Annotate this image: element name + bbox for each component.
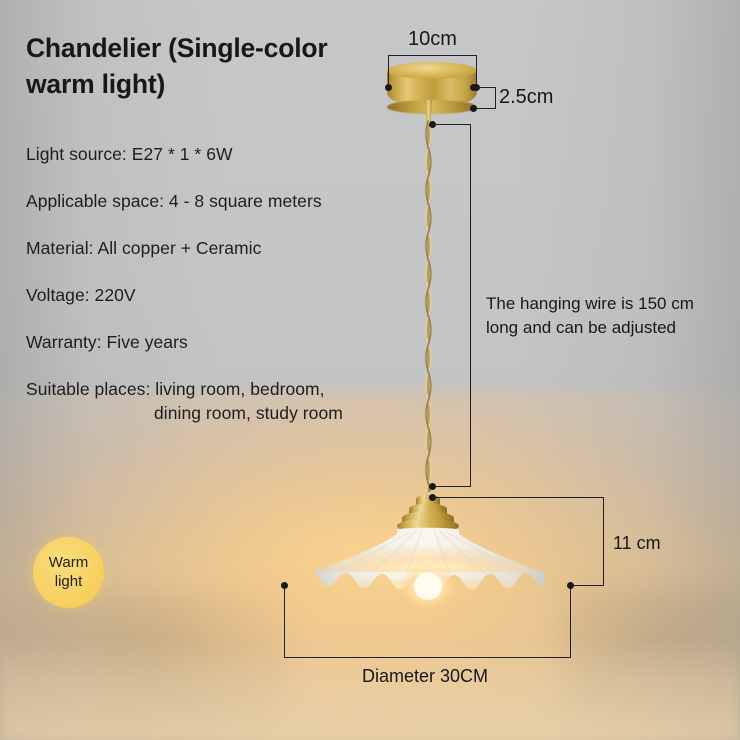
wire-note-dot-bottom	[429, 483, 436, 490]
dim-label-canopy-width: 10cm	[408, 28, 457, 51]
hanging-wire-note-line1: The hanging wire is 150 cm	[486, 294, 694, 313]
cord-braid	[424, 120, 433, 492]
dim-10cm-tick-right	[476, 55, 477, 87]
warm-light-badge-line2: light	[55, 573, 83, 591]
dim-25cm-leader-bottom	[476, 108, 496, 109]
spec-voltage: Voltage: 220V	[26, 284, 426, 307]
dim-10cm-dot-left	[385, 84, 392, 91]
spec-warranty: Warranty: Five years	[26, 331, 426, 354]
wire-note-leader-bottom	[432, 486, 471, 487]
canopy-bottom-edge	[387, 100, 477, 114]
lamp-shade-art	[276, 486, 581, 611]
wall-light-wash	[0, 640, 740, 740]
spec-suitable-places: Suitable places: living room, bedroom, d…	[26, 378, 426, 424]
spec-suitable-places-line1: Suitable places: living room, bedroom,	[26, 379, 325, 399]
wire-note-line	[470, 124, 471, 486]
dim-25cm-dot-bottom	[470, 105, 477, 112]
spec-suitable-places-line2: dining room, study room	[26, 402, 426, 425]
hanging-cord	[424, 120, 433, 492]
dim-label-canopy-height: 2.5cm	[499, 86, 553, 109]
lamp-shade	[276, 486, 581, 611]
warm-light-badge: Warm light	[33, 537, 104, 608]
spec-material: Material: All copper + Ceramic	[26, 237, 426, 260]
dim-11cm-leader-top	[432, 497, 604, 498]
dim-25cm-dot-top	[470, 84, 477, 91]
canopy-top-face	[387, 62, 477, 79]
dim-diameter-tick-right	[570, 585, 571, 657]
dim-10cm-line	[388, 55, 477, 56]
dim-25cm-leader-top	[476, 87, 496, 88]
dim-label-shade-diameter: Diameter 30CM	[362, 666, 488, 687]
dim-25cm-line	[495, 87, 496, 109]
spec-light-source: Light source: E27 * 1 * 6W	[26, 143, 426, 166]
wire-note-leader-top	[432, 124, 471, 125]
specification-list: Light source: E27 * 1 * 6W Applicable sp…	[26, 143, 426, 425]
hanging-wire-note: The hanging wire is 150 cm long and can …	[486, 292, 694, 340]
ceiling-canopy	[387, 62, 477, 110]
hanging-wire-note-line2: long and can be adjusted	[486, 318, 676, 337]
dim-diameter-tick-left	[284, 585, 285, 657]
page-title: Chandelier (Single-color warm light)	[26, 30, 386, 102]
dim-11cm-leader-bottom	[570, 585, 604, 586]
dim-diameter-line	[284, 657, 571, 658]
dim-label-shade-height: 11 cm	[613, 533, 661, 554]
warm-light-badge-line1: Warm	[49, 554, 88, 572]
dim-10cm-tick-left	[388, 55, 389, 87]
dim-11cm-line	[603, 497, 604, 586]
product-infographic: Chandelier (Single-color warm light) Lig…	[0, 0, 740, 740]
spec-applicable-space: Applicable space: 4 - 8 square meters	[26, 190, 426, 213]
